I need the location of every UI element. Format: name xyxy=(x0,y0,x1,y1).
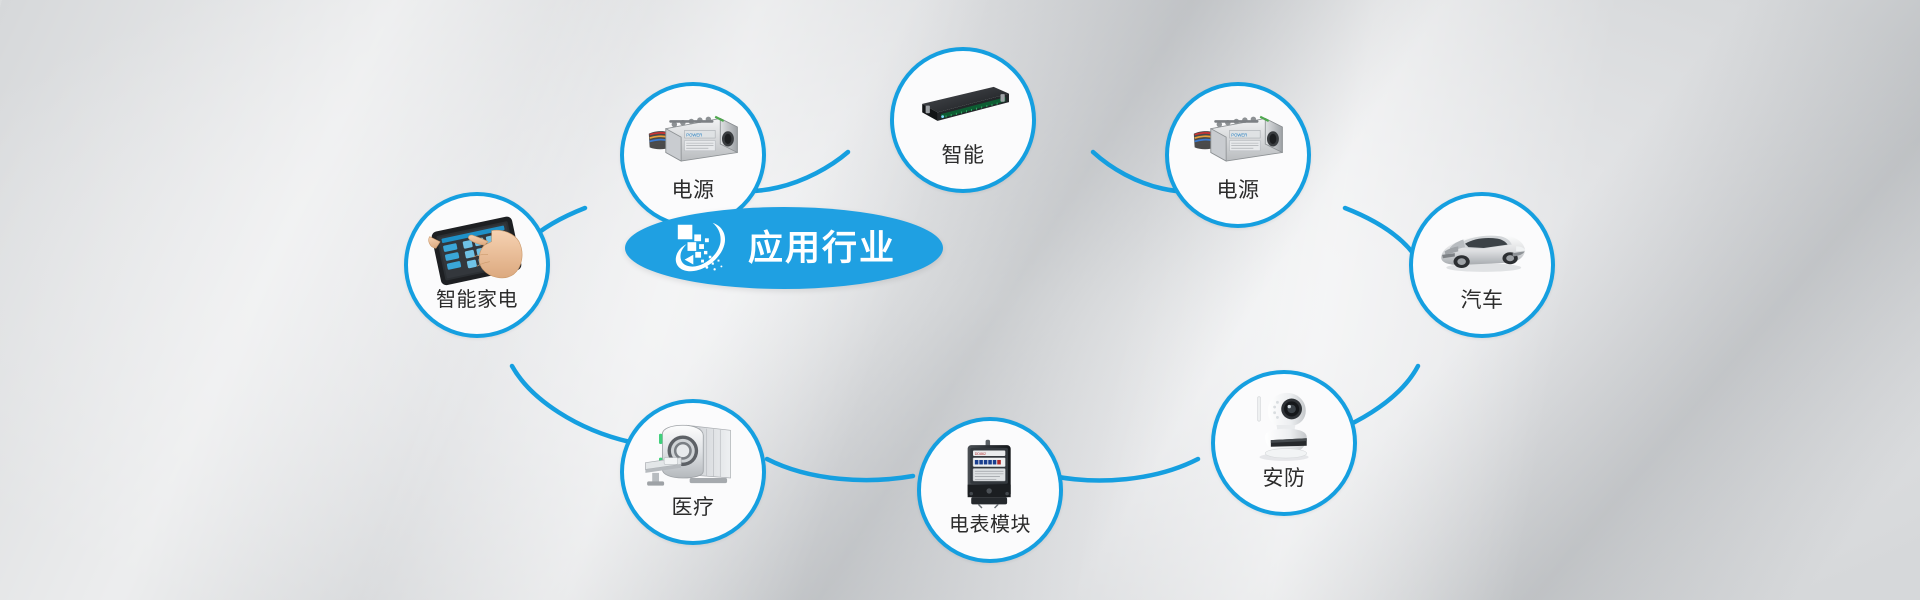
electric-meter-icon: DD862 xyxy=(939,438,1041,510)
node-label: 电源 xyxy=(672,180,715,201)
node-label: 医疗 xyxy=(672,497,715,518)
center-badge[interactable]: 应用行业 xyxy=(625,207,943,289)
rack-server-icon xyxy=(912,68,1014,140)
atx-power-supply-icon: POWER xyxy=(642,103,744,175)
node-label: 智能家电 xyxy=(436,290,518,310)
node-label: 智能 xyxy=(942,145,985,166)
node-power-left[interactable]: POWER 电源 xyxy=(620,82,766,228)
tablet-touch-icon xyxy=(426,213,528,285)
node-security[interactable]: 安防 xyxy=(1211,370,1357,516)
atx-power-supply-icon: POWER xyxy=(1187,103,1289,175)
orbit-pixel-logo-icon xyxy=(672,217,734,279)
node-label: 电表模块 xyxy=(949,515,1031,535)
svg-text:POWER: POWER xyxy=(686,132,702,137)
application-industries-diagram: POWER 电源 xyxy=(0,0,1920,600)
node-automotive[interactable]: 汽车 xyxy=(1409,192,1555,338)
node-label: 汽车 xyxy=(1461,290,1504,311)
badge-title: 应用行业 xyxy=(748,231,896,266)
node-power-right[interactable]: POWER 电源 xyxy=(1165,82,1311,228)
node-smart-home[interactable]: 智能家电 xyxy=(404,192,550,338)
node-label: 安防 xyxy=(1263,468,1306,489)
mri-scanner-icon xyxy=(642,420,744,492)
node-medical[interactable]: 医疗 xyxy=(620,399,766,545)
node-meter-module[interactable]: DD862 电表模块 xyxy=(917,417,1063,563)
node-label: 电源 xyxy=(1217,180,1260,201)
node-smart[interactable]: 智能 xyxy=(890,47,1036,193)
svg-text:POWER: POWER xyxy=(1231,132,1247,137)
sports-car-icon xyxy=(1431,213,1533,285)
ip-camera-icon xyxy=(1233,391,1335,463)
svg-text:DD862: DD862 xyxy=(975,452,986,456)
